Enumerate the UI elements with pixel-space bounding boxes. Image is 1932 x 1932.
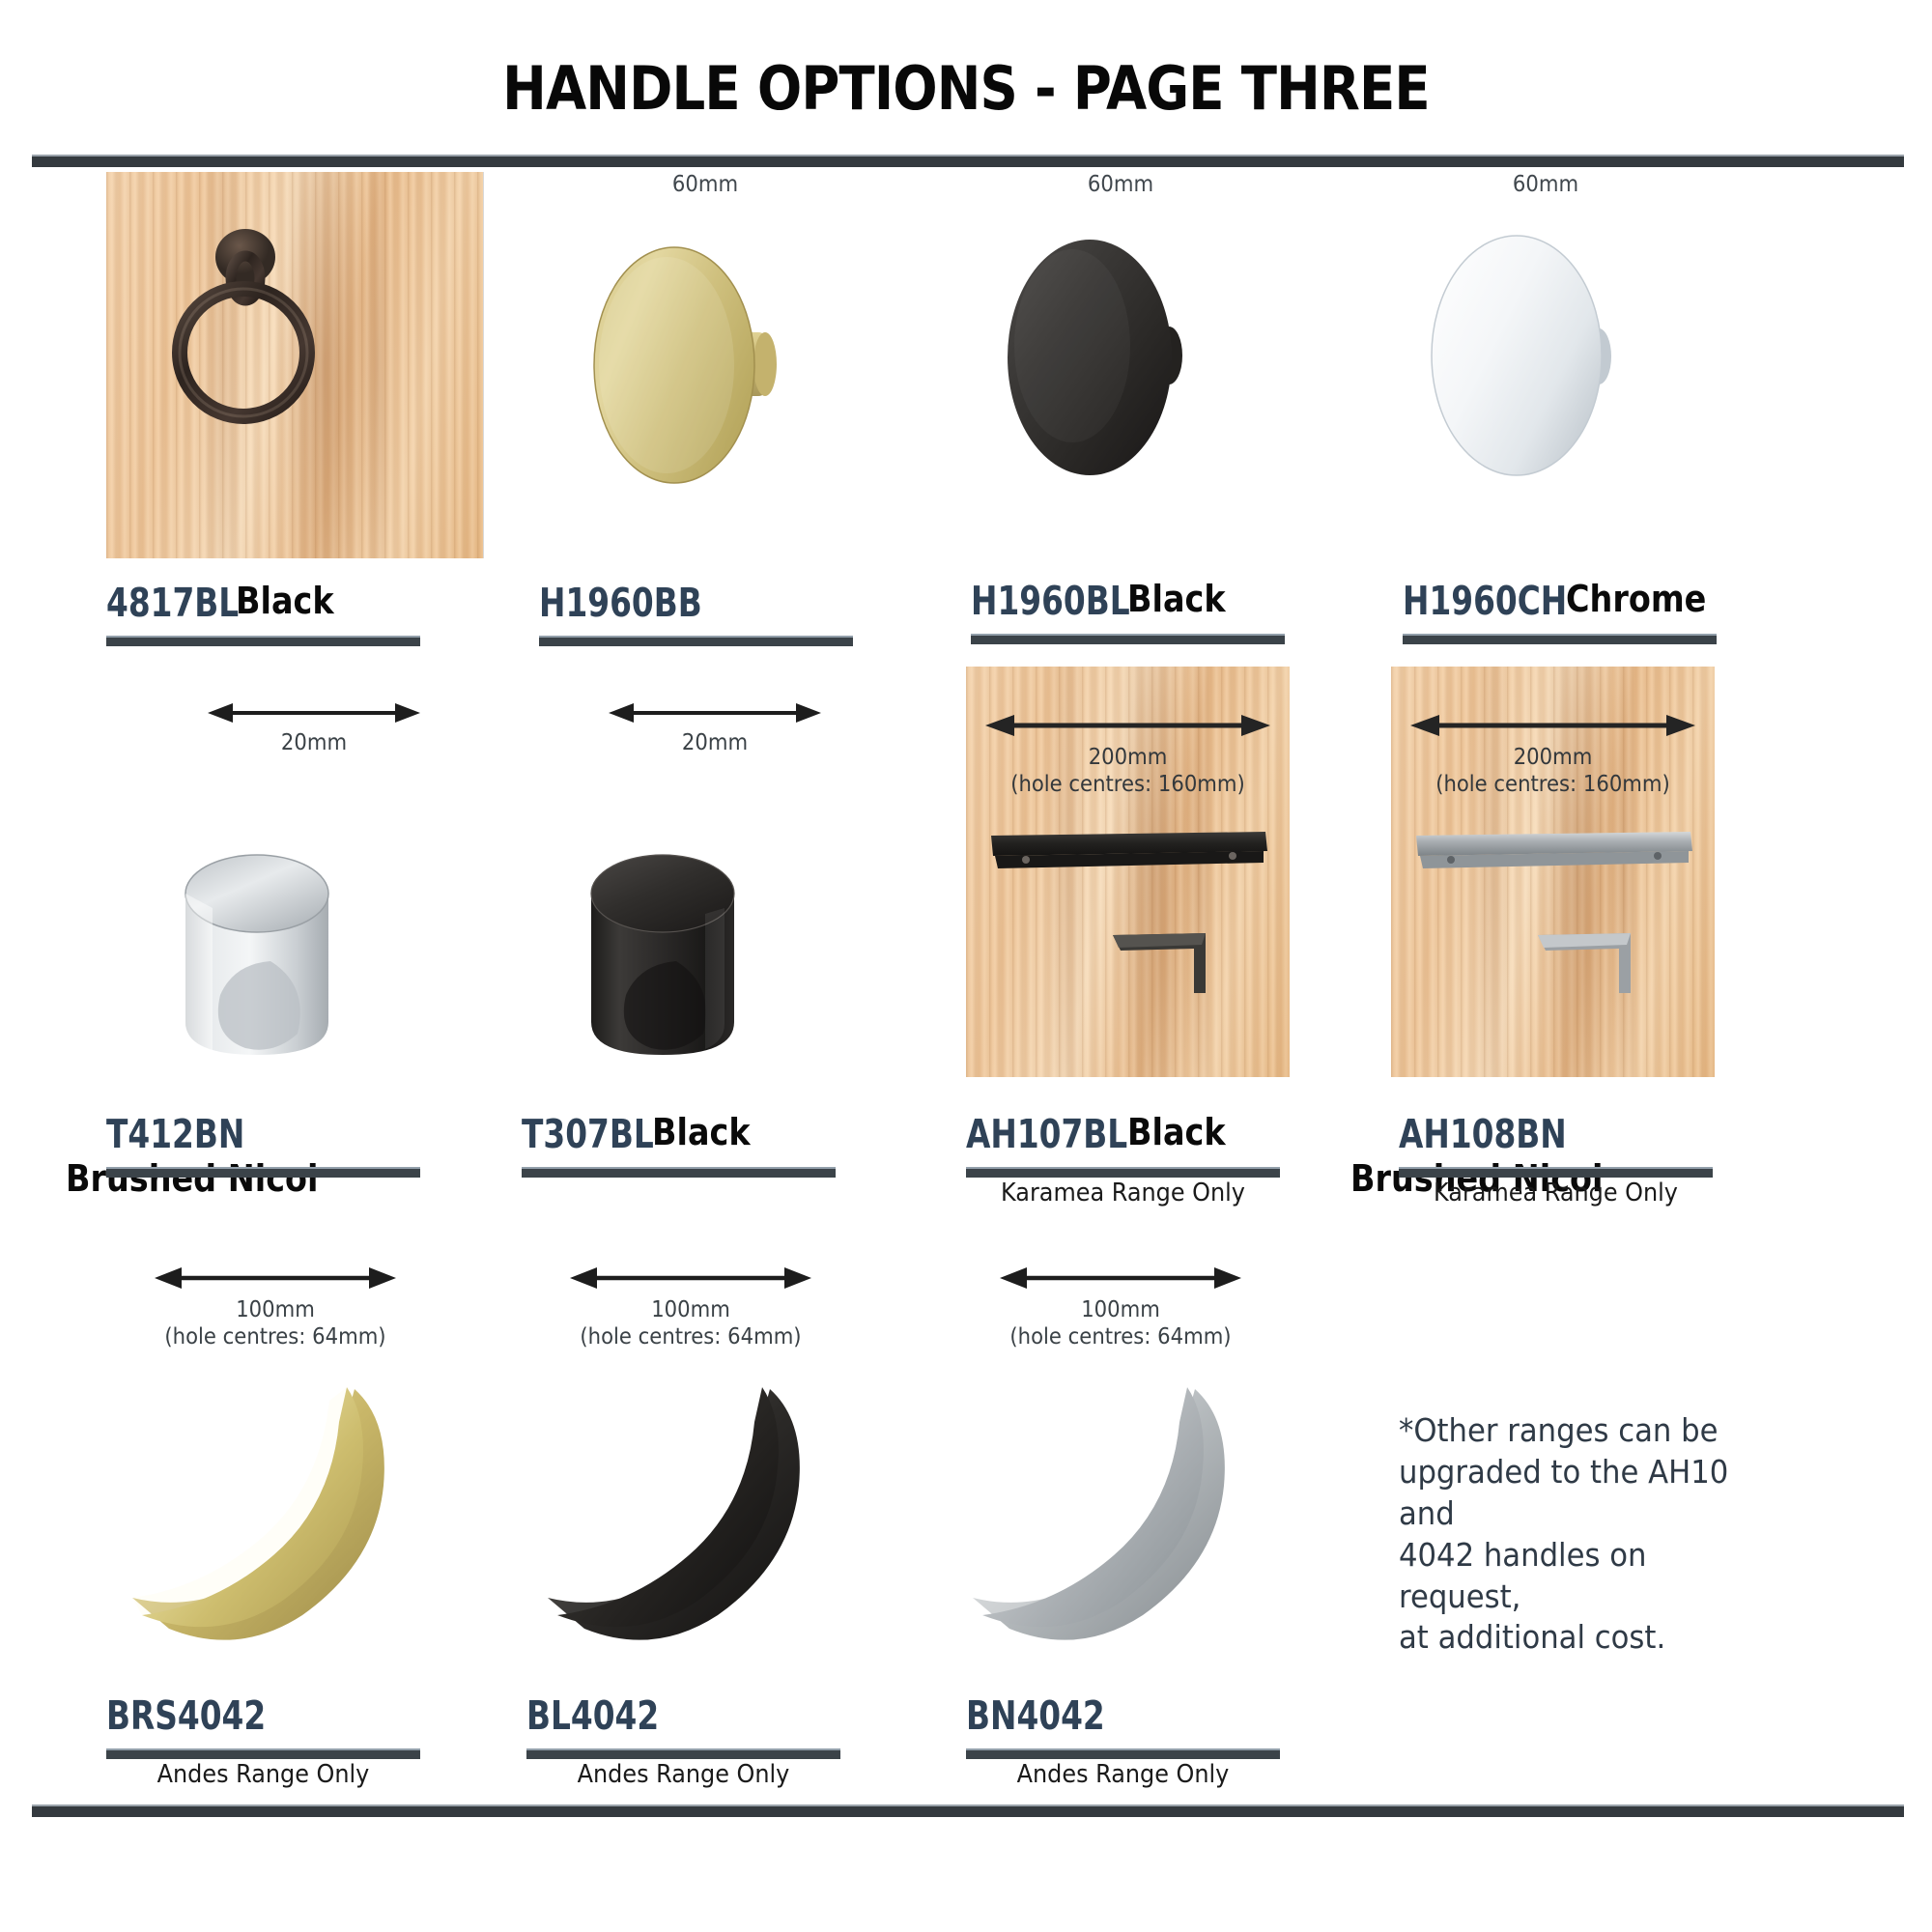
range-note: Karamea Range Only xyxy=(979,1179,1267,1207)
product-card-ah108bn[interactable]: 200mm (hole centres: 160mm) xyxy=(1391,667,1715,1077)
chrome-disc-knob-icon xyxy=(1391,211,1700,510)
product-finish: Chrome xyxy=(1566,578,1706,620)
label-underline xyxy=(966,1167,1280,1178)
label-t412bn: T412BN Brushed Nicol xyxy=(106,1111,493,1200)
label-ah108bn: AH108BN Brushed Nicol Karamea Range Only xyxy=(1399,1111,1824,1200)
product-code: H1960CH xyxy=(1403,578,1567,624)
dimension-arrow-icon xyxy=(609,700,821,725)
label-underline xyxy=(539,636,853,646)
range-note: Andes Range Only xyxy=(979,1760,1267,1789)
dimension-text: 100mm (hole centres: 64mm) xyxy=(1009,1296,1232,1350)
dimension-text: 20mm xyxy=(216,729,412,756)
dimension-arrow-icon xyxy=(570,1265,811,1291)
dimension-text: 100mm (hole centres: 64mm) xyxy=(580,1296,802,1350)
label-4817bl: 4817BL Black xyxy=(106,580,435,626)
product-card-h1960bb[interactable]: 60mm xyxy=(551,172,860,558)
product-code: AH108BN xyxy=(1399,1111,1567,1157)
label-h1960ch: H1960CH Chrome xyxy=(1403,578,1750,624)
dimension-t412bn: 20mm xyxy=(208,700,420,778)
top-divider xyxy=(32,155,1904,167)
brass-disc-knob-icon xyxy=(551,220,860,510)
product-finish: Black xyxy=(236,580,334,622)
dimension-bl4042: 100mm (hole centres: 64mm) xyxy=(570,1265,811,1372)
product-code: H1960BL xyxy=(971,578,1130,624)
dimension-t307bl: 20mm xyxy=(609,700,821,778)
label-underline xyxy=(1399,1167,1713,1178)
label-underline xyxy=(971,634,1285,644)
product-card-h1960ch[interactable]: 60mm xyxy=(1391,172,1700,558)
product-code: BRS4042 xyxy=(106,1692,266,1739)
dimension-text: 100mm (hole centres: 64mm) xyxy=(164,1296,386,1350)
label-underline xyxy=(966,1748,1280,1759)
label-bl4042: BL4042 Andes Range Only xyxy=(526,1692,913,1739)
dimension-arrow-icon xyxy=(1000,1265,1241,1291)
product-code: T412BN xyxy=(106,1111,244,1157)
label-underline xyxy=(106,636,420,646)
range-note: Andes Range Only xyxy=(119,1760,408,1789)
nickel-cylinder-knob-icon xyxy=(174,850,357,1072)
label-underline xyxy=(106,1167,420,1178)
bottom-divider xyxy=(32,1804,1904,1817)
product-card-ah107bl[interactable]: 200mm (hole centres: 160mm) xyxy=(966,667,1290,1077)
upgrade-note: *Other ranges can be upgraded to the AH1… xyxy=(1399,1410,1776,1659)
label-underline xyxy=(106,1748,420,1759)
ring-pull-icon xyxy=(106,172,483,558)
page-title: HANDLE OPTIONS - PAGE THREE xyxy=(116,53,1816,124)
black-disc-knob-icon xyxy=(966,211,1275,510)
dimension-label-h1960ch: 60mm xyxy=(1404,172,1688,197)
label-underline xyxy=(1403,634,1717,644)
range-note: Karamea Range Only xyxy=(1411,1179,1700,1207)
product-code: T307BL xyxy=(522,1111,654,1157)
range-note: Andes Range Only xyxy=(539,1760,828,1789)
dimension-brs4042: 100mm (hole centres: 64mm) xyxy=(155,1265,396,1372)
label-t307bl: T307BL Black xyxy=(522,1111,908,1157)
label-bn4042: BN4042 Andes Range Only xyxy=(966,1692,1352,1739)
product-finish: Brushed Nicol xyxy=(66,1157,318,1200)
product-code: 4817BL xyxy=(106,580,239,626)
handle-options-page: HANDLE OPTIONS - PAGE THREE 50mm xyxy=(0,0,1932,1932)
dimension-text: 20mm xyxy=(617,729,812,756)
label-underline xyxy=(526,1748,840,1759)
dimension-label-h1960bl: 60mm xyxy=(979,172,1263,197)
product-code: BN4042 xyxy=(966,1692,1105,1739)
nickel-crescent-handle-icon xyxy=(952,1362,1261,1652)
product-finish: Black xyxy=(652,1111,751,1153)
black-crescent-handle-icon xyxy=(526,1362,836,1652)
label-underline xyxy=(522,1167,836,1178)
product-card-h1960bl[interactable]: 60mm xyxy=(966,172,1275,558)
product-finish: Black xyxy=(1127,578,1226,620)
dimension-arrow-icon xyxy=(208,700,420,725)
product-card-4817bl[interactable]: 50mm xyxy=(106,172,483,558)
black-bar-handle-icon xyxy=(966,667,1290,1077)
dimension-arrow-icon xyxy=(155,1265,396,1291)
product-finish: Black xyxy=(1127,1111,1226,1153)
label-h1960bb: H1960BB xyxy=(539,580,867,626)
brass-crescent-handle-icon xyxy=(111,1362,420,1652)
label-brs4042: BRS4042 Andes Range Only xyxy=(106,1692,493,1739)
product-code: BL4042 xyxy=(526,1692,659,1739)
product-code: AH107BL xyxy=(966,1111,1127,1157)
product-code: H1960BB xyxy=(539,580,702,626)
label-h1960bl: H1960BL Black xyxy=(971,578,1299,624)
label-ah107bl: AH107BL Black Karamea Range Only xyxy=(966,1111,1352,1157)
black-cylinder-knob-icon xyxy=(580,850,763,1072)
dimension-bn4042: 100mm (hole centres: 64mm) xyxy=(1000,1265,1241,1372)
dimension-label-h1960bb: 60mm xyxy=(563,172,847,197)
nickel-bar-handle-icon xyxy=(1391,667,1715,1077)
